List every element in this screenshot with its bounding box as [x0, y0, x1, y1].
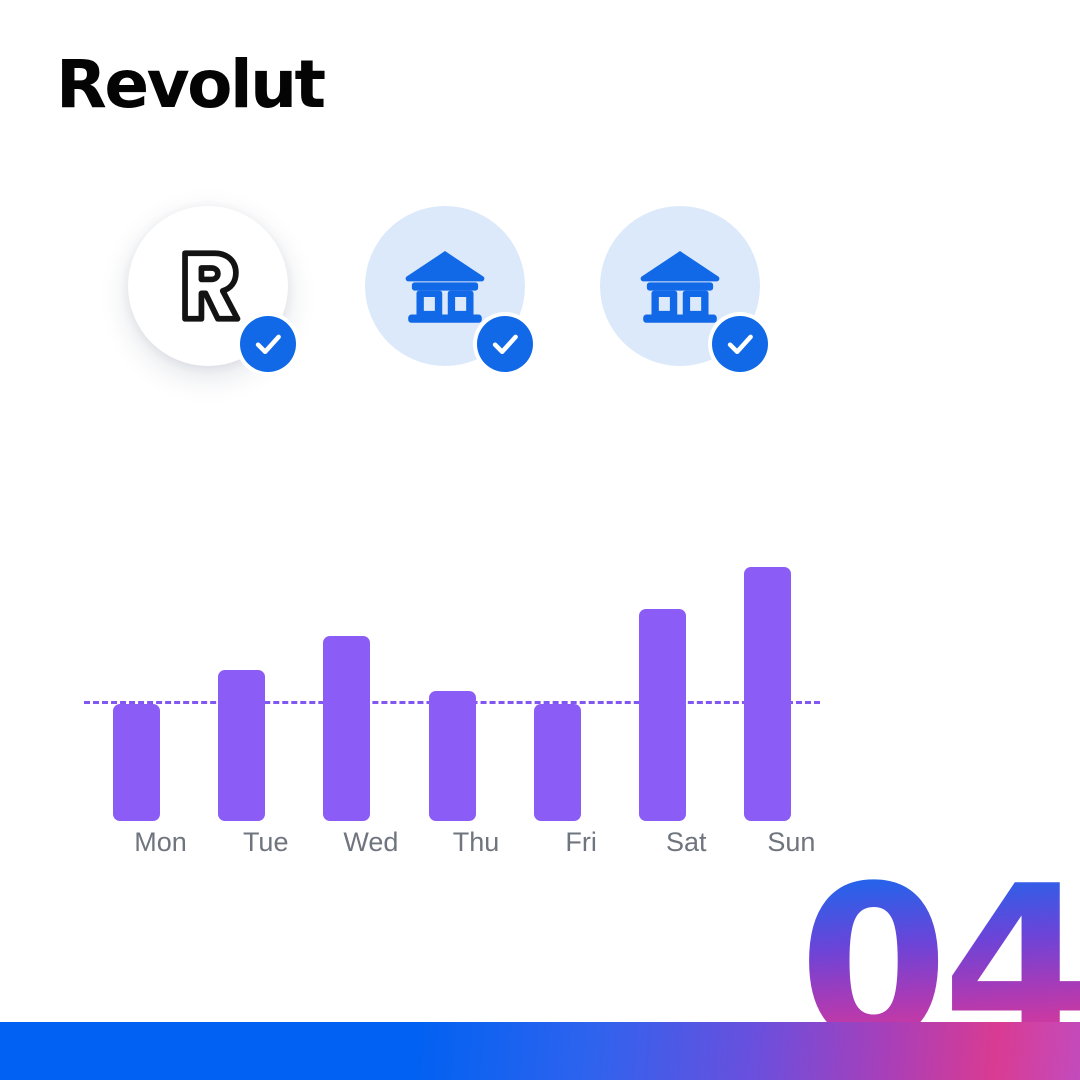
chart-x-label: Wed	[311, 824, 431, 860]
verified-badge	[236, 312, 300, 376]
check-icon	[723, 327, 757, 361]
chart-x-label: Sat	[626, 824, 746, 860]
chart-x-label: Thu	[416, 824, 536, 860]
bank-icon	[399, 240, 491, 332]
verified-badge	[708, 312, 772, 376]
chart-bar[interactable]	[218, 670, 265, 821]
linked-accounts-row	[128, 206, 828, 396]
chart-x-label: Mon	[101, 824, 221, 860]
account-tile-revolut[interactable]	[128, 206, 288, 366]
revolut-r-icon	[167, 245, 249, 327]
verified-badge-circle	[477, 316, 533, 372]
promo-card: Revolut	[0, 0, 1080, 1080]
check-icon	[488, 327, 522, 361]
chart-x-label: Tue	[206, 824, 326, 860]
chart-bar[interactable]	[323, 636, 370, 822]
brand-wordmark: Revolut	[56, 52, 324, 118]
account-tile-bank-1[interactable]	[365, 206, 525, 366]
check-icon	[251, 327, 285, 361]
chart-bar[interactable]	[639, 609, 686, 821]
chart-bar[interactable]	[113, 704, 160, 821]
weekly-spending-chart: MonTueWedThuFriSatSun	[84, 556, 820, 868]
chart-x-axis-labels: MonTueWedThuFriSatSun	[84, 824, 820, 868]
verified-badge	[473, 312, 537, 376]
account-tile-bank-2[interactable]	[600, 206, 760, 366]
bank-icon	[634, 240, 726, 332]
chart-bar[interactable]	[429, 691, 476, 821]
chart-plot-area	[84, 556, 820, 821]
chart-bar[interactable]	[744, 567, 791, 821]
verified-badge-circle	[712, 316, 768, 372]
chart-x-label: Fri	[521, 824, 641, 860]
footer-gradient-bar	[0, 1022, 1080, 1080]
chart-bar[interactable]	[534, 704, 581, 821]
verified-badge-circle	[240, 316, 296, 372]
